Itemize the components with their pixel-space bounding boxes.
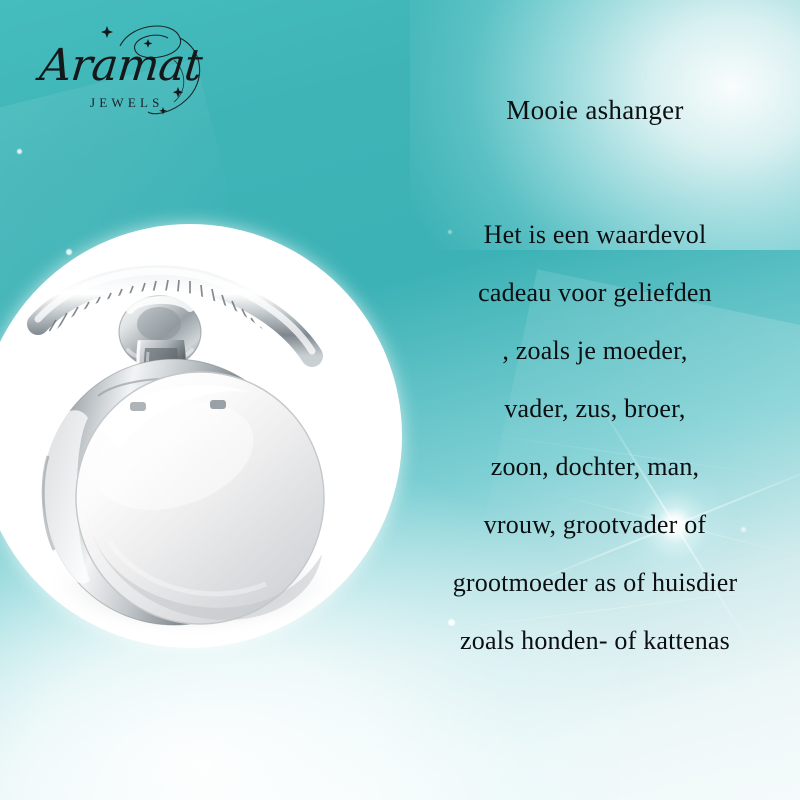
description-line: vrouw, grootvader of [395,512,795,570]
brand-name: Aramat [38,44,204,88]
description-line: grootmoeder as of huisdier [395,570,795,628]
brand-logo[interactable]: Aramat JEWELS [28,16,228,126]
sparkle-dot [17,149,22,154]
headline-block: Mooie ashanger [395,96,795,126]
description-line: Het is een waardevol [395,222,795,280]
description-line: vader, zus, broer, [395,396,795,454]
description-line: , zoals je moeder, [395,338,795,396]
brand-tagline: JEWELS [90,95,164,111]
page-title: Mooie ashanger [395,96,795,126]
description-line: cadeau voor geliefden [395,280,795,338]
sparkle-dot [66,249,72,255]
description-line: zoals honden- of kattenas [395,628,795,686]
description-line: zoon, dochter, man, [395,454,795,512]
description-block: Het is een waardevol cadeau voor geliefd… [395,222,795,686]
promo-banner: Aramat JEWELS [0,0,800,800]
